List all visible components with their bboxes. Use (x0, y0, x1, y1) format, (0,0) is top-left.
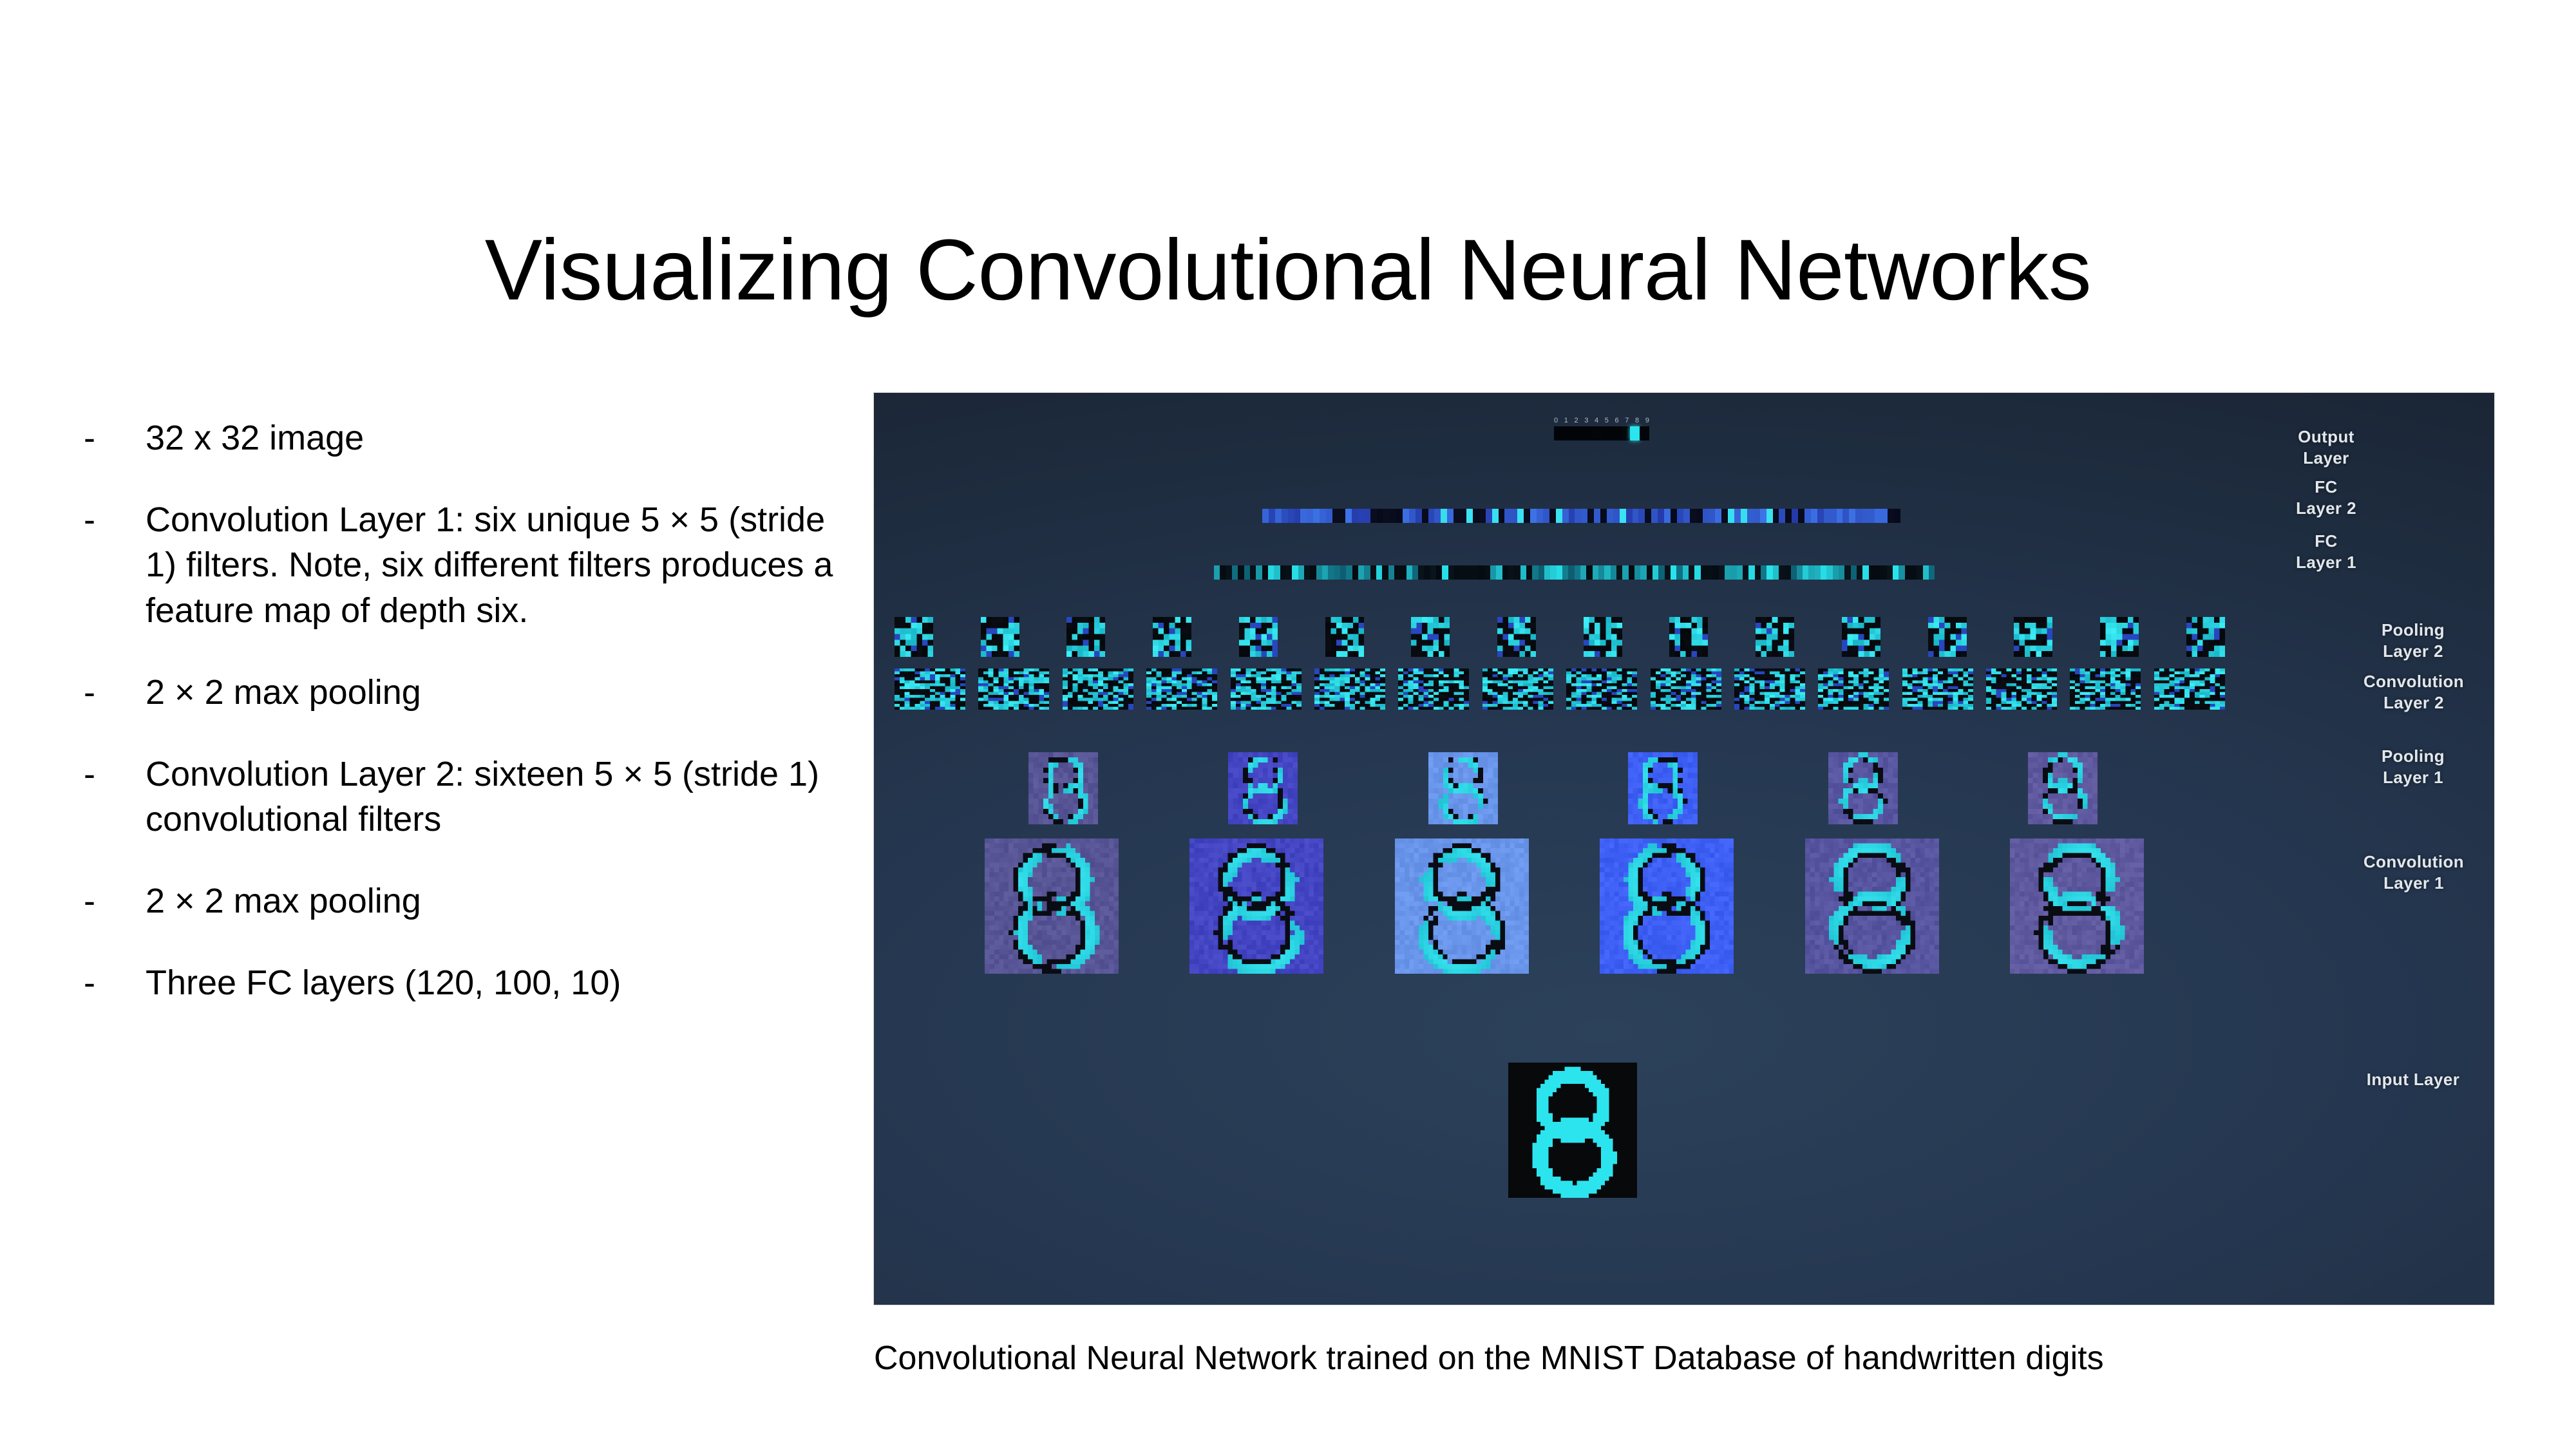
fc-activation-cell (1737, 565, 1743, 580)
fc-activation-cell (1226, 565, 1232, 580)
fc-activation-cell (1690, 509, 1696, 523)
layer-label-fc-1: FC Layer 1 (2265, 531, 2387, 574)
fc-activation-cell (1899, 565, 1904, 580)
fc-activation-cell (1556, 509, 1562, 523)
feature-map (978, 668, 1049, 710)
fc-activation-cell (1416, 509, 1422, 523)
feature-map (1805, 838, 1939, 974)
fc-activation-cell (1647, 565, 1653, 580)
fc-activation-cell (1587, 509, 1594, 523)
fc-activation-cell (1633, 509, 1639, 523)
fc-activation-cell (1792, 509, 1798, 523)
layer-label-convolution-1: Convolution Layer 1 (2346, 851, 2481, 895)
layer-label-output: Output Layer (2265, 426, 2387, 469)
fc-activation-cell (1766, 509, 1773, 523)
output-cell (1592, 426, 1602, 440)
fc-activation-cell (1798, 509, 1804, 523)
input-layer-image (1508, 1063, 1637, 1198)
fc-activation-cell (1352, 509, 1358, 523)
fc-activation-cell (1594, 509, 1600, 523)
fc-activation-cell (1466, 565, 1472, 580)
fc-activation-cell (1849, 509, 1855, 523)
fc-activation-cell (1580, 565, 1586, 580)
fc-activation-cell (1294, 509, 1301, 523)
fc-activation-cell (1269, 509, 1275, 523)
bullet-text: Three FC layers (120, 100, 10) (146, 960, 844, 1006)
fc-activation-cell (1436, 565, 1442, 580)
fc-activation-cell (1549, 509, 1556, 523)
fc-activation-cell (1313, 509, 1320, 523)
feature-map (981, 617, 1019, 657)
fc-activation-cell (1220, 565, 1226, 580)
fc-activation-cell (1721, 509, 1728, 523)
fc-activation-cell (1403, 509, 1409, 523)
fc-activation-cell (1524, 509, 1530, 523)
fc-activation-cell (1689, 565, 1694, 580)
feature-map (1066, 617, 1105, 657)
fc-activation-cell (1696, 509, 1703, 523)
fc-activation-cell (1773, 509, 1779, 523)
fc-layer-1-activations (1214, 565, 1935, 580)
fc-activation-cell (1460, 565, 1466, 580)
list-item: - Three FC layers (120, 100, 10) (84, 960, 844, 1006)
fc-activation-cell (1370, 509, 1377, 523)
output-cell (1582, 426, 1592, 440)
fc-activation-cell (1288, 509, 1294, 523)
bullet-dash-icon: - (84, 752, 146, 797)
fc-activation-cell (1905, 565, 1911, 580)
fc-activation-cell (1785, 565, 1790, 580)
fc-activation-cell (1709, 509, 1715, 523)
fc-activation-cell (1683, 509, 1690, 523)
fc-activation-cell (1811, 509, 1817, 523)
fc-activation-cell (1352, 565, 1358, 580)
output-cell (1611, 426, 1621, 440)
fc-activation-cell (1844, 565, 1850, 580)
bullet-text: 32 x 32 image (146, 415, 844, 461)
fc-activation-cell (1869, 565, 1875, 580)
fc-activation-cell (1842, 509, 1849, 523)
fc-activation-cell (1880, 565, 1886, 580)
fc-activation-cell (1824, 509, 1830, 523)
fc-activation-cell (1894, 509, 1900, 523)
feature-map (2154, 668, 2225, 710)
fc-activation-cell (1826, 565, 1832, 580)
fc-activation-cell (1298, 565, 1304, 580)
output-layer-group: 0123456789 (1550, 417, 1653, 440)
fc-activation-cell (1286, 565, 1292, 580)
feature-map (2100, 617, 2139, 657)
fc-activation-cell (1508, 565, 1514, 580)
fc-activation-cell (1365, 509, 1371, 523)
fc-activation-cell (1562, 509, 1569, 523)
pooling-layer-1-maps (1028, 752, 2098, 824)
fc-activation-cell (1543, 509, 1549, 523)
fc-activation-cell (1653, 565, 1658, 580)
fc-activation-cell (1492, 509, 1499, 523)
fc-activation-cell (1490, 565, 1496, 580)
output-digit-tick: 5 (1605, 417, 1609, 424)
output-cell-predicted (1630, 426, 1640, 440)
fc-activation-cell (1586, 565, 1592, 580)
bullet-dash-icon: - (84, 960, 146, 1006)
fc-activation-cell (1238, 565, 1244, 580)
fc-activation-cell (1569, 509, 1575, 523)
fc-activation-cell (1328, 565, 1334, 580)
fc-activation-cell (1703, 509, 1709, 523)
fc-activation-cell (1701, 565, 1707, 580)
layer-label-fc-2: FC Layer 2 (2265, 477, 2387, 520)
fc-activation-cell (1370, 565, 1376, 580)
fc-activation-cell (1514, 565, 1520, 580)
fc-activation-cell (1593, 565, 1598, 580)
feature-map (1398, 668, 1469, 710)
fc-activation-cell (1665, 565, 1671, 580)
fc-layer-2-activations (1262, 509, 1900, 523)
fc-activation-cell (1677, 509, 1683, 523)
fc-activation-cell (1929, 565, 1935, 580)
fc-activation-cell (1232, 565, 1238, 580)
fc-activation-cell (1268, 565, 1274, 580)
fc-activation-cell (1728, 509, 1734, 523)
output-digit-tick: 1 (1564, 417, 1568, 424)
fc-activation-cell (1651, 509, 1658, 523)
fc-activation-cell (1862, 565, 1868, 580)
fc-activation-cell (1447, 509, 1454, 523)
output-digit-ticks: 0123456789 (1554, 417, 1649, 424)
fc-activation-cell (1394, 565, 1400, 580)
fc-activation-cell (1607, 509, 1613, 523)
fc-activation-cell (1326, 509, 1332, 523)
feature-map (1411, 617, 1450, 657)
fc-activation-cell (1390, 509, 1396, 523)
fc-activation-cell (1581, 509, 1587, 523)
fc-activation-cell (1479, 509, 1486, 523)
feature-map (2014, 617, 2052, 657)
fc-activation-cell (1671, 509, 1677, 523)
feature-map (1842, 617, 1880, 657)
fc-activation-cell (1441, 509, 1447, 523)
fc-activation-cell (1454, 565, 1460, 580)
fc-activation-cell (1282, 509, 1288, 523)
fc-activation-cell (1275, 509, 1282, 523)
fc-activation-cell (1396, 509, 1403, 523)
feature-map (1063, 668, 1133, 710)
fc-activation-cell (1550, 565, 1556, 580)
bullet-dash-icon: - (84, 497, 146, 543)
list-item: - 2 × 2 max pooling (84, 670, 844, 715)
fc-activation-cell (1923, 565, 1929, 580)
fc-activation-cell (1725, 565, 1730, 580)
fc-activation-cell (1262, 509, 1269, 523)
fc-activation-cell (1250, 565, 1256, 580)
fc-activation-cell (1851, 565, 1857, 580)
fc-activation-cell (1881, 509, 1888, 523)
pooling-layer-2-maps (895, 617, 2225, 657)
layer-label-convolution-2: Convolution Layer 2 (2346, 671, 2481, 714)
fc-activation-cell (1502, 565, 1508, 580)
fc-activation-cell (1888, 509, 1894, 523)
fc-activation-cell (1434, 509, 1441, 523)
feature-map (2010, 838, 2144, 974)
layer-label-pooling-2: Pooling Layer 2 (2349, 620, 2477, 663)
feature-map (1628, 752, 1698, 824)
fc-activation-cell (1676, 565, 1682, 580)
fc-activation-cell (1893, 565, 1899, 580)
output-cell (1554, 426, 1564, 440)
feature-map (1497, 617, 1536, 657)
feature-map (1146, 668, 1217, 710)
output-digit-tick: 3 (1584, 417, 1588, 424)
fc-activation-cell (1694, 565, 1700, 580)
fc-activation-cell (1773, 565, 1779, 580)
bullet-dash-icon: - (84, 878, 146, 924)
fc-activation-cell (1629, 565, 1634, 580)
fc-activation-cell (1645, 509, 1651, 523)
feature-map (1600, 838, 1734, 974)
fc-activation-cell (1857, 565, 1862, 580)
bullet-list: - 32 x 32 image - Convolution Layer 1: s… (84, 415, 844, 1042)
feature-map (1828, 752, 1898, 824)
fc-activation-cell (1604, 565, 1610, 580)
feature-map (1928, 617, 1967, 657)
feature-map (985, 838, 1119, 974)
feature-map (1734, 668, 1805, 710)
feature-map (1669, 617, 1708, 657)
feature-map (1228, 752, 1298, 824)
fc-activation-cell (1568, 565, 1574, 580)
fc-activation-cell (1830, 509, 1837, 523)
bullet-text: Convolution Layer 1: six unique 5 × 5 (s… (146, 497, 844, 634)
fc-activation-cell (1575, 565, 1580, 580)
fc-activation-cell (1611, 565, 1616, 580)
fc-activation-cell (1532, 565, 1538, 580)
fc-activation-cell (1383, 509, 1390, 523)
fc-activation-cell (1887, 565, 1893, 580)
layer-label-input: Input Layer (2349, 1069, 2477, 1090)
feature-map (1482, 668, 1553, 710)
fc-activation-cell (1280, 565, 1286, 580)
list-item: - Convolution Layer 2: sixteen 5 × 5 (st… (84, 752, 844, 842)
fc-activation-cell (1484, 565, 1490, 580)
fc-activation-cell (1626, 509, 1633, 523)
fc-activation-cell (1622, 565, 1628, 580)
fc-activation-cell (1424, 565, 1430, 580)
fc-activation-cell (1358, 509, 1365, 523)
fc-activation-cell (1839, 565, 1844, 580)
fc-activation-cell (1316, 565, 1322, 580)
fc-activation-cell (1418, 565, 1424, 580)
output-cell (1573, 426, 1583, 440)
fc-activation-cell (1504, 509, 1511, 523)
fc-activation-cell (1734, 509, 1741, 523)
fc-activation-cell (1322, 565, 1328, 580)
fc-activation-cell (1747, 509, 1754, 523)
fc-activation-cell (1499, 509, 1505, 523)
fc-activation-cell (1539, 565, 1544, 580)
fc-activation-cell (1791, 565, 1797, 580)
fc-activation-cell (1517, 509, 1524, 523)
fc-activation-cell (1544, 565, 1550, 580)
fc-activation-cell (1244, 565, 1250, 580)
feature-map (2186, 617, 2225, 657)
bullet-text: 2 × 2 max pooling (146, 878, 844, 924)
fc-activation-cell (1346, 565, 1352, 580)
fc-activation-cell (1460, 509, 1466, 523)
fc-activation-cell (1339, 509, 1345, 523)
fc-activation-cell (1400, 565, 1406, 580)
output-digit-tick: 7 (1625, 417, 1629, 424)
fc-activation-cell (1345, 509, 1352, 523)
feature-map (1756, 617, 1794, 657)
fc-activation-cell (1334, 565, 1340, 580)
feature-map (1986, 668, 2057, 710)
fc-activation-cell (1855, 509, 1862, 523)
convolution-layer-2-maps (895, 668, 2225, 710)
fc-activation-cell (1406, 565, 1412, 580)
feature-map (1314, 668, 1385, 710)
fc-activation-cell (1658, 565, 1664, 580)
feature-map (2070, 668, 2141, 710)
list-item: - Convolution Layer 1: six unique 5 × 5 … (84, 497, 844, 634)
fc-activation-cell (1575, 509, 1581, 523)
fc-activation-cell (1377, 509, 1383, 523)
fc-activation-cell (1664, 509, 1671, 523)
fc-activation-cell (1671, 565, 1676, 580)
feature-map (1428, 752, 1498, 824)
feature-map (1239, 617, 1278, 657)
fc-activation-cell (1634, 565, 1640, 580)
fc-activation-cell (1274, 565, 1280, 580)
feature-map (1651, 668, 1721, 710)
fc-activation-cell (1537, 509, 1543, 523)
fc-activation-cell (1803, 565, 1808, 580)
cnn-visualization-figure: 0123456789 Output Layer FC Layer 2 FC La… (874, 393, 2494, 1305)
fc-activation-cell (1530, 509, 1537, 523)
fc-activation-cell (1472, 565, 1478, 580)
fc-activation-cell (1358, 565, 1364, 580)
list-item: - 2 × 2 max pooling (84, 878, 844, 924)
fc-activation-cell (1741, 509, 1747, 523)
feature-map (1395, 838, 1529, 974)
input-digit-image (1508, 1063, 1637, 1198)
feature-map (895, 668, 965, 710)
output-layer-cells (1554, 426, 1649, 440)
fc-activation-cell (1620, 509, 1626, 523)
fc-activation-cell (1256, 565, 1262, 580)
fc-activation-cell (1917, 565, 1922, 580)
fc-activation-cell (1412, 565, 1418, 580)
feature-map (2028, 752, 2098, 824)
fc-activation-cell (1821, 565, 1826, 580)
fc-activation-cell (1815, 565, 1821, 580)
output-digit-tick: 0 (1554, 417, 1558, 424)
bullet-text: Convolution Layer 2: sixteen 5 × 5 (stri… (146, 752, 844, 842)
bullet-dash-icon: - (84, 670, 146, 715)
fc-activation-cell (1388, 565, 1394, 580)
cnn-visualization-stage: 0123456789 Output Layer FC Layer 2 FC La… (874, 393, 2494, 1305)
fc-activation-cell (1478, 565, 1484, 580)
fc-activation-cell (1712, 565, 1718, 580)
fc-activation-cell (1862, 509, 1868, 523)
fc-activation-cell (1422, 509, 1428, 523)
feature-map (1231, 668, 1302, 710)
figure-caption: Convolutional Neural Network trained on … (874, 1338, 2548, 1378)
fc-activation-cell (1320, 509, 1326, 523)
fc-activation-cell (1526, 565, 1532, 580)
feature-map (1028, 752, 1098, 824)
fc-activation-cell (1473, 509, 1479, 523)
fc-activation-cell (1779, 565, 1785, 580)
output-digit-tick: 2 (1575, 417, 1578, 424)
fc-activation-cell (1808, 565, 1814, 580)
fc-activation-cell (1332, 509, 1339, 523)
fc-activation-cell (1511, 509, 1517, 523)
fc-activation-cell (1754, 509, 1760, 523)
page-title: Visualizing Convolutional Neural Network… (0, 224, 2576, 317)
fc-activation-cell (1833, 565, 1839, 580)
output-digit-tick: 9 (1645, 417, 1649, 424)
fc-activation-cell (1364, 565, 1370, 580)
output-cell (1564, 426, 1573, 440)
fc-activation-cell (1658, 509, 1664, 523)
feature-map (1325, 617, 1364, 657)
fc-activation-cell (1448, 565, 1454, 580)
fc-activation-cell (1868, 509, 1875, 523)
fc-activation-cell (1785, 509, 1792, 523)
fc-activation-cell (1760, 509, 1766, 523)
fc-activation-cell (1640, 565, 1646, 580)
fc-activation-cell (1340, 565, 1346, 580)
fc-activation-cell (1730, 565, 1736, 580)
fc-activation-cell (1292, 565, 1298, 580)
fc-activation-cell (1486, 509, 1492, 523)
fc-activation-cell (1600, 509, 1607, 523)
output-digit-tick: 6 (1615, 417, 1619, 424)
fc-activation-cell (1262, 565, 1268, 580)
bullet-text: 2 × 2 max pooling (146, 670, 844, 715)
feature-map (1189, 838, 1323, 974)
fc-activation-cell (1715, 509, 1721, 523)
fc-activation-cell (1638, 509, 1645, 523)
fc-activation-cell (1779, 509, 1785, 523)
fc-activation-cell (1430, 565, 1436, 580)
fc-activation-cell (1766, 565, 1772, 580)
fc-activation-cell (1755, 565, 1761, 580)
fc-activation-cell (1683, 565, 1689, 580)
fc-activation-cell (1707, 565, 1712, 580)
output-digit-tick: 8 (1635, 417, 1639, 424)
fc-activation-cell (1520, 565, 1526, 580)
list-item: - 32 x 32 image (84, 415, 844, 461)
fc-activation-cell (1496, 565, 1502, 580)
convolution-layer-1-maps (985, 838, 2144, 974)
bullet-dash-icon: - (84, 415, 146, 461)
fc-activation-cell (1562, 565, 1568, 580)
fc-activation-cell (1409, 509, 1416, 523)
fc-activation-cell (1719, 565, 1725, 580)
fc-activation-cell (1376, 565, 1382, 580)
feature-map (1153, 617, 1191, 657)
fc-activation-cell (1382, 565, 1388, 580)
fc-activation-cell (1804, 509, 1811, 523)
output-cell (1602, 426, 1611, 440)
output-cell (1640, 426, 1649, 440)
fc-activation-cell (1214, 565, 1220, 580)
fc-activation-cell (1613, 509, 1620, 523)
output-digit-tick: 4 (1595, 417, 1598, 424)
fc-activation-cell (1304, 565, 1310, 580)
